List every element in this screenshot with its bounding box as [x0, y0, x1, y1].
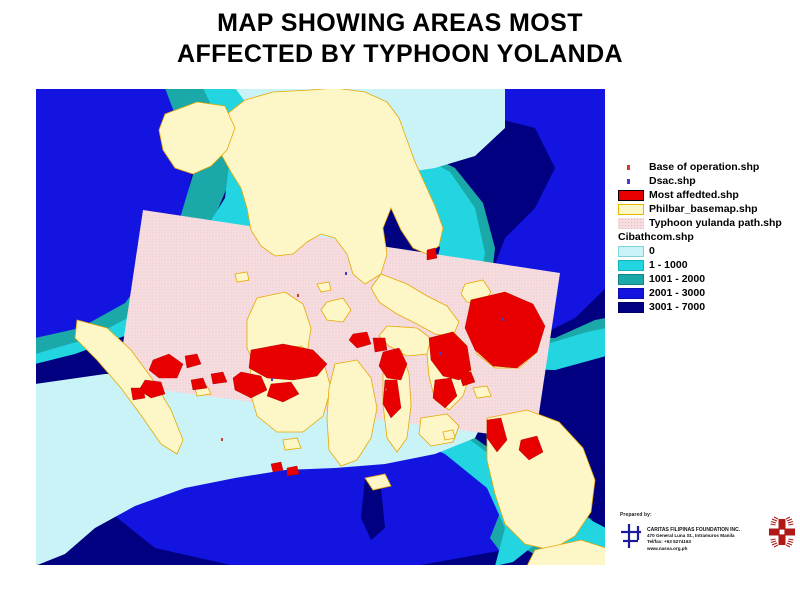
legend-label: 2001 - 3000	[649, 288, 705, 299]
map-poster: MAP SHOWING AREAS MOST AFFECTED BY TYPHO…	[0, 0, 800, 596]
legend-label: 1 - 1000	[649, 260, 688, 271]
legend-group-heading: Cibathcom.shp	[618, 231, 798, 244]
legend-label: 0	[649, 246, 655, 257]
legend-item-base-of-operation[interactable]: Base of operation.shp	[618, 160, 798, 174]
legend-item-most-affected[interactable]: Most affedted.shp	[618, 188, 798, 202]
legend-label: 1001 - 2000	[649, 274, 705, 285]
map-canvas[interactable]	[35, 88, 606, 566]
affected-aurora-point	[427, 248, 437, 260]
legend-label: Dsac.shp	[649, 176, 696, 187]
swatch-most-affected	[618, 190, 644, 201]
nassa-cross-icon	[618, 521, 644, 551]
swatch-class-1-1000	[618, 260, 644, 271]
point-marker-icon	[618, 162, 644, 173]
affected-sibuyan	[373, 338, 387, 352]
legend-class-1-1000[interactable]: 1 - 1000	[618, 258, 798, 272]
swatch-class-1001-2000	[618, 274, 644, 285]
caritas-logo-icon	[766, 516, 798, 548]
legend-class-3001-7000[interactable]: 3001 - 7000	[618, 300, 798, 314]
title-line-1: MAP SHOWING AREAS MOST	[217, 9, 583, 37]
point-marker-icon	[618, 176, 644, 187]
legend-label: 3001 - 7000	[649, 302, 705, 313]
legend-item-dsac[interactable]: Dsac.shp	[618, 174, 798, 188]
legend-label: Base of operation.shp	[649, 162, 759, 173]
credit-website[interactable]: www.nassa.org.ph	[647, 546, 740, 552]
page-title: MAP SHOWING AREAS MOST AFFECTED BY TYPHO…	[0, 8, 800, 70]
credit-lines: CARITAS FILIPINAS FOUNDATION INC. 470 Ge…	[647, 521, 740, 552]
legend-class-1001-2000[interactable]: 1001 - 2000	[618, 272, 798, 286]
swatch-typhoon-path	[618, 218, 644, 229]
swatch-class-2001-3000	[618, 288, 644, 299]
affected-south-mark1	[287, 466, 299, 476]
credits-block: Prepared by: CARITAS FILIPINAS FOUNDATIO…	[618, 512, 800, 572]
legend-label: Typhoon yulanda path.shp	[649, 218, 782, 229]
swatch-class-3001-7000	[618, 302, 644, 313]
title-line-2: AFFECTED BY TYPHOON YOLANDA	[0, 39, 800, 70]
affected-west-sm1	[131, 388, 145, 400]
legend-label: Philbar_basemap.shp	[649, 204, 758, 215]
swatch-class-0	[618, 246, 644, 257]
swatch-philbar-basemap	[618, 204, 644, 215]
legend-class-2001-3000[interactable]: 2001 - 3000	[618, 286, 798, 300]
legend-label: Most affedted.shp	[649, 190, 739, 201]
legend-class-0[interactable]: 0	[618, 244, 798, 258]
legend: Base of operation.shp Dsac.shp Most affe…	[618, 160, 798, 314]
legend-item-typhoon-path[interactable]: Typhoon yulanda path.shp	[618, 216, 798, 230]
map-graphic	[35, 88, 606, 566]
affected-south-mark2	[271, 462, 283, 472]
legend-item-philbar-basemap[interactable]: Philbar_basemap.shp	[618, 202, 798, 216]
